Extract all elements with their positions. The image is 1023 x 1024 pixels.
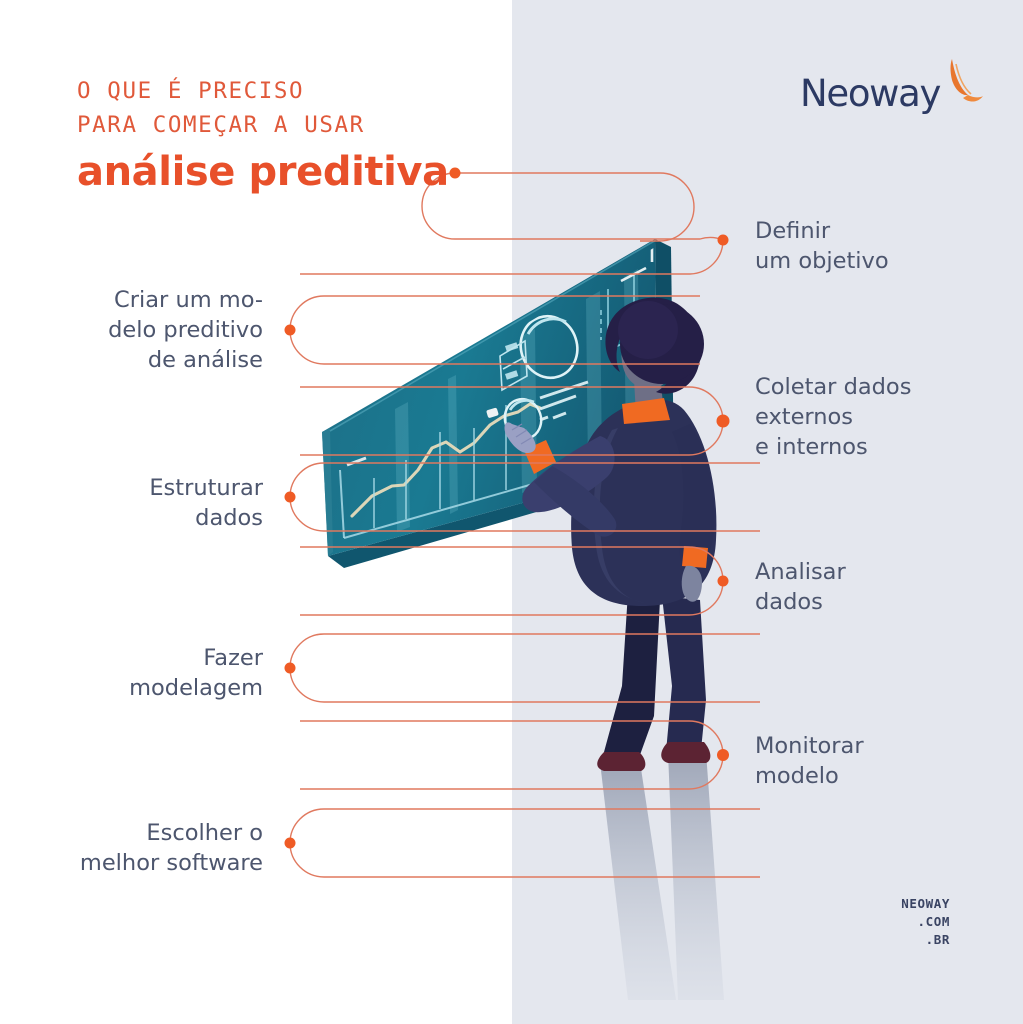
step-label-fazer-modelagem: Fazer modelagem (60, 643, 263, 703)
neoway-logo[interactable]: Neoway (800, 58, 975, 120)
dot-fazer-modelagem (285, 663, 296, 674)
dot-coletar-dados (717, 415, 730, 428)
dot-escolher-software (285, 838, 296, 849)
dot-monitorar-modelo (717, 749, 729, 761)
infographic-canvas: O QUE É PRECISO PARA COMEÇAR A USAR anál… (0, 0, 1023, 1024)
connector-coletar-dados-a (300, 387, 723, 421)
step-label-analisar-dados: Analisar dados (755, 557, 1005, 617)
connector-monitorar-modelo-b (300, 755, 723, 789)
headline-block: O QUE É PRECISO PARA COMEÇAR A USAR anál… (77, 74, 497, 198)
headline-line-1: O QUE É PRECISO (77, 74, 497, 108)
step-label-criar-modelo: Criar um mo- delo preditivo de análise (60, 285, 263, 375)
footer-website[interactable]: NEOWAY .COM .BR (800, 895, 950, 949)
dot-criar-modelo (285, 325, 296, 336)
step-label-coletar-dados: Coletar dados externos e internos (755, 372, 1005, 462)
step-label-estruturar-dados: Estruturar dados (60, 473, 263, 533)
connector-estruturar-dados-b (290, 497, 760, 531)
connector-fazer-modelagem-a (290, 634, 760, 668)
connector-monitorar-modelo-a (300, 721, 723, 755)
connector-coletar-dados-b (300, 421, 723, 455)
dot-analisar-dados (718, 576, 729, 587)
feather-swoosh-icon (922, 54, 984, 114)
connector-estruturar-dados-a (290, 463, 760, 497)
step-label-definir-objetivo: Definir um objetivo (755, 216, 1005, 276)
connector-analisar-dados-a (300, 547, 723, 581)
connector-criar-modelo-a (290, 296, 700, 330)
connector-analisar-dados-b (300, 581, 723, 615)
step-label-escolher-software: Escolher o melhor software (40, 818, 263, 878)
connector-definir-objetivo-c (300, 240, 723, 274)
connector-escolher-software-b (290, 843, 760, 877)
headline-line-3: análise preditiva (77, 146, 497, 198)
connector-escolher-software-a (290, 809, 760, 843)
step-label-monitorar-modelo: Monitorar modelo (755, 731, 1005, 791)
footer-line-1: NEOWAY (800, 895, 950, 913)
connector-criar-modelo-b (290, 330, 700, 364)
footer-line-2: .COM (800, 913, 950, 931)
logo-wordmark: Neoway (800, 72, 940, 115)
footer-line-3: .BR (800, 931, 950, 949)
connector-fazer-modelagem-b (290, 668, 760, 702)
dot-definir-objetivo (718, 235, 729, 246)
dot-estruturar-dados (285, 492, 296, 503)
headline-line-2: PARA COMEÇAR A USAR (77, 108, 497, 142)
